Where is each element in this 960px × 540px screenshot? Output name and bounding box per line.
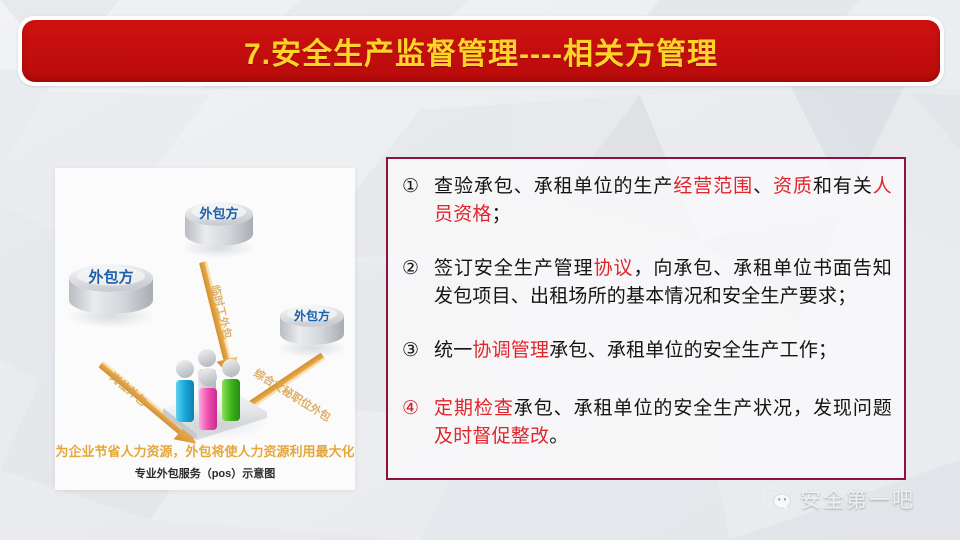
svg-text:外包方: 外包方 bbox=[294, 308, 330, 323]
plain-text: 承包、承租单位的安全生产状况，发现问题 bbox=[514, 398, 892, 419]
highlighted-text: 协调管理 bbox=[472, 340, 549, 361]
illustration-tagline: 为企业节省人力资源，外包将使人力资源利用最大化 bbox=[55, 444, 354, 459]
list-marker: ① bbox=[402, 173, 434, 201]
plain-text: 。 bbox=[549, 426, 568, 447]
title-banner-fill: 7.安全生产监督管理----相关方管理 bbox=[22, 20, 940, 82]
plain-text: 签订安全生产管理 bbox=[434, 258, 594, 279]
watermark-label: 安全第一吧 bbox=[800, 484, 915, 514]
person-green bbox=[222, 359, 240, 421]
outsourcing-diagram-svg: 岗位外包 临时工外包 综合文秘职位外包 外包方 外包方 外包方 bbox=[55, 168, 355, 490]
list-text: 统一协调管理承包、承租单位的安全生产工作； bbox=[434, 337, 892, 365]
svg-text:外包方: 外包方 bbox=[87, 268, 133, 286]
node-outsourcing-party-top: 外包方 bbox=[182, 202, 256, 258]
svg-text:外包方: 外包方 bbox=[198, 206, 238, 221]
person-pink bbox=[199, 368, 217, 430]
plain-text: 查验承包、承租单位的生产 bbox=[434, 176, 673, 197]
list-item: ③ 统一协调管理承包、承租单位的安全生产工作； bbox=[402, 337, 892, 365]
highlighted-text: 协议 bbox=[594, 258, 634, 279]
plain-text: 统一 bbox=[434, 340, 472, 361]
plain-text: 、 bbox=[753, 176, 773, 197]
highlighted-text: 经营范围 bbox=[673, 176, 753, 197]
list-item: ④ 定期检查承包、承租单位的安全生产状况，发现问题及时督促整改。 bbox=[402, 395, 892, 451]
highlighted-text: 资质 bbox=[773, 176, 813, 197]
illustration-caption: 专业外包服务（pos）示意图 bbox=[135, 466, 276, 480]
node-outsourcing-party-left: 外包方 bbox=[67, 264, 155, 328]
outsourcing-diagram-image: 岗位外包 临时工外包 综合文秘职位外包 外包方 外包方 外包方 bbox=[55, 168, 355, 490]
highlighted-text: 定期检查 bbox=[434, 398, 514, 419]
watermark: 安全第一吧 bbox=[762, 484, 915, 514]
list-text: 定期检查承包、承租单位的安全生产状况，发现问题及时督促整改。 bbox=[434, 395, 892, 451]
list-item: ① 查验承包、承租单位的生产经营范围、资质和有关人员资格； bbox=[402, 173, 892, 229]
node-outsourcing-party-right: 外包方 bbox=[277, 305, 347, 358]
list-item: ② 签订安全生产管理协议，向承包、承租单位书面告知发包项目、出租场所的基本情况和… bbox=[402, 255, 892, 311]
content-box: ① 查验承包、承租单位的生产经营范围、资质和有关人员资格； ② 签订安全生产管理… bbox=[386, 157, 906, 480]
plain-text: 承包、承租单位的安全生产工作； bbox=[549, 340, 837, 361]
list-marker: ③ bbox=[402, 337, 434, 365]
list-text: 查验承包、承租单位的生产经营范围、资质和有关人员资格； bbox=[434, 173, 892, 229]
list-marker: ④ bbox=[402, 395, 434, 423]
list-text: 签订安全生产管理协议，向承包、承租单位书面告知发包项目、出租场所的基本情况和安全… bbox=[434, 255, 892, 311]
highlighted-text: 及时督促整改 bbox=[434, 426, 549, 447]
wechat-icon bbox=[762, 486, 792, 512]
person-blue bbox=[176, 360, 194, 422]
plain-text: ； bbox=[492, 204, 511, 225]
title-banner: 7.安全生产监督管理----相关方管理 bbox=[18, 16, 944, 86]
plain-text: 和有关 bbox=[813, 176, 873, 197]
page-title: 7.安全生产监督管理----相关方管理 bbox=[244, 29, 718, 73]
list-marker: ② bbox=[402, 255, 434, 283]
